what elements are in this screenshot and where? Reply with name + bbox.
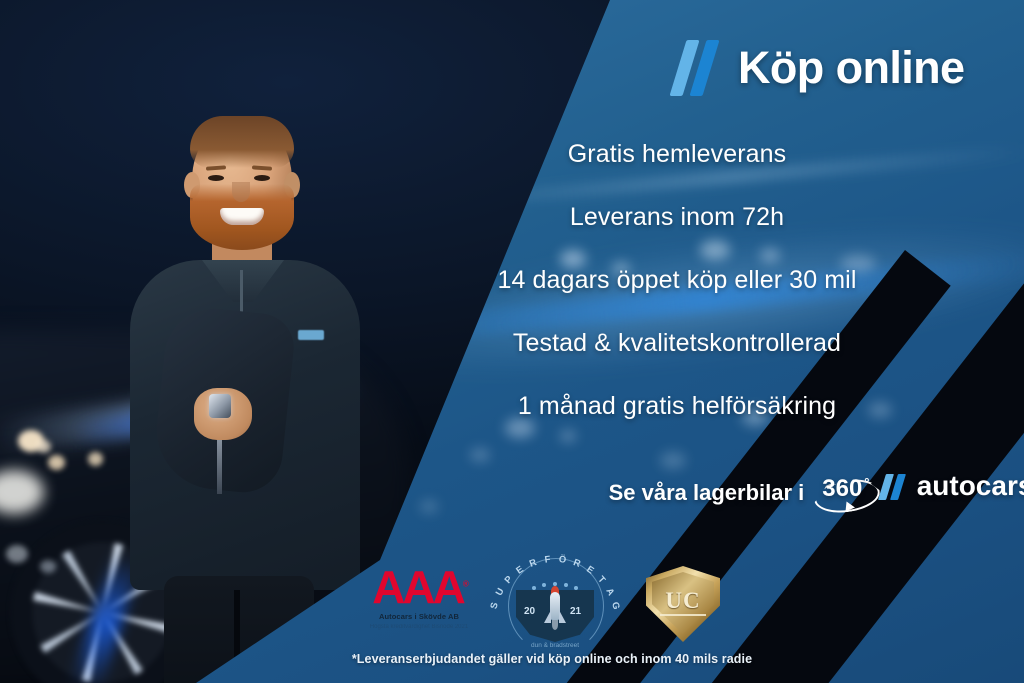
panel-content: Köp online Gratis hemleverans Leverans i… — [0, 0, 1024, 683]
cta-headline-text: Se våra lagerbilar i — [609, 480, 805, 506]
list-item: 14 dagars öppet köp eller 30 mil — [0, 266, 1024, 295]
360-view-icon: 360 ° — [814, 473, 876, 513]
degree-symbol: ° — [864, 475, 869, 490]
double-slash-icon — [676, 40, 720, 96]
orbit-arrow-icon — [846, 502, 856, 513]
list-item: Leverans inom 72h — [0, 203, 1024, 232]
uc-underline — [660, 614, 706, 616]
benefits-list: Gratis hemleverans Leverans inom 72h 14 … — [0, 140, 1024, 455]
badge-footer-text: dun & bradstreet — [500, 642, 610, 649]
aaa-mark-text: AAA — [372, 561, 463, 613]
badge-year-left: 20 — [524, 606, 535, 617]
cta-headline: Se våra lagerbilar i 360 ° — [609, 473, 877, 513]
aaa-caption: Högsta kreditvärdighet Bisnode 2021 — [354, 623, 484, 631]
website-link[interactable]: autocars.nu — [881, 470, 1024, 502]
uc-mark-text: UC — [646, 588, 720, 614]
call-to-action: Se våra lagerbilar i 360 ° autocars.nu — [0, 462, 1024, 513]
page-title-text: Köp online — [738, 42, 964, 94]
aaa-company-name: Autocars i Skövde AB — [354, 612, 484, 621]
registered-trademark-icon: ® — [463, 580, 466, 589]
aaa-credit-logo: AAA® Autocars i Skövde AB Högsta kreditv… — [354, 564, 484, 631]
rocket-icon — [548, 586, 562, 630]
double-slash-icon — [881, 472, 909, 500]
website-url-text: autocars.nu — [917, 470, 1024, 502]
list-item: Testad & kvalitetskontrollerad — [0, 329, 1024, 358]
superforetag-badge: SUPERFÖRETAG 20 21 dun & bradstreet — [500, 556, 610, 648]
list-item: 1 månad gratis helförsäkring — [0, 392, 1024, 421]
disclaimer-text: *Leveranserbjudandet gäller vid köp onli… — [0, 652, 1024, 666]
list-item: Gratis hemleverans — [0, 140, 1024, 169]
360-number: 360 — [822, 477, 862, 501]
promo-banner: Köp online Gratis hemleverans Leverans i… — [0, 0, 1024, 683]
certification-logos: AAA® Autocars i Skövde AB Högsta kreditv… — [340, 556, 760, 648]
page-title: Köp online — [676, 40, 964, 96]
badge-year-right: 21 — [570, 606, 581, 617]
uc-shield-logo: UC — [646, 566, 720, 642]
aaa-mark: AAA® — [354, 564, 484, 610]
